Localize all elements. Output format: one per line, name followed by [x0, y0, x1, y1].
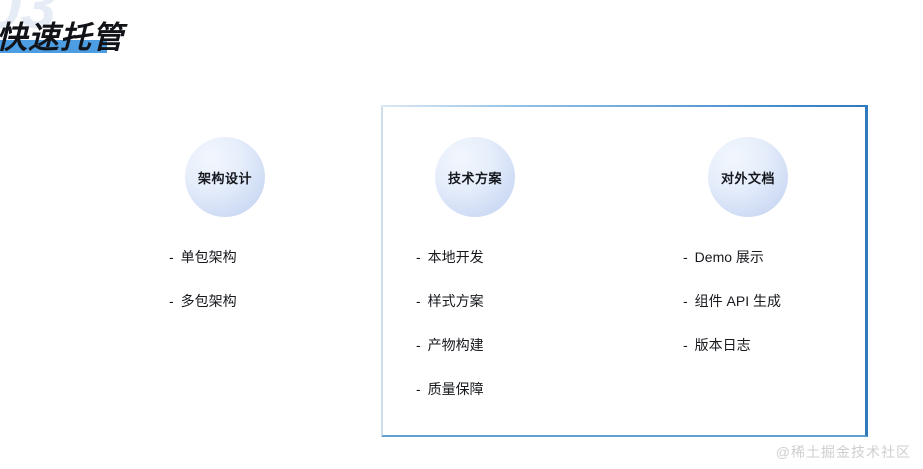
list-bullet-dash: - [416, 381, 421, 397]
bubble-architecture: 架构设计 [185, 137, 265, 217]
list-item: -版本日志 [683, 337, 833, 353]
slide-canvas: 03 快速托管 架构设计 -单包架构 -多包架构 技术方案 -本地开发 -样式方… [0, 0, 923, 469]
column-external-docs: 对外文档 -Demo 展示 -组件 API 生成 -版本日志 [663, 137, 833, 381]
item-list-tech-solution: -本地开发 -样式方案 -产物构建 -质量保障 [416, 249, 550, 397]
item-list-architecture: -单包架构 -多包架构 [169, 249, 295, 309]
slide-title-group: 快速托管 [0, 18, 124, 60]
list-item: -组件 API 生成 [683, 293, 833, 309]
list-bullet-dash: - [683, 337, 688, 353]
item-list-external-docs: -Demo 展示 -组件 API 生成 -版本日志 [683, 249, 833, 353]
site-watermark: @稀土掘金技术社区 [776, 442, 911, 462]
list-item-label: Demo 展示 [695, 249, 764, 265]
column-architecture: 架构设计 -单包架构 -多包架构 [155, 137, 295, 337]
list-item-label: 质量保障 [428, 381, 484, 397]
page-title: 快速托管 [0, 18, 124, 58]
list-item-label: 组件 API 生成 [695, 293, 781, 309]
list-bullet-dash: - [416, 337, 421, 353]
list-item-label: 产物构建 [428, 337, 484, 353]
list-item: -产物构建 [416, 337, 550, 353]
list-bullet-dash: - [683, 293, 688, 309]
bubble-external-docs: 对外文档 [708, 137, 788, 217]
bubble-tech-solution: 技术方案 [435, 137, 515, 217]
bubble-label: 对外文档 [721, 168, 775, 187]
list-item-label: 样式方案 [428, 293, 484, 309]
list-item: -单包架构 [169, 249, 295, 265]
list-item: -多包架构 [169, 293, 295, 309]
list-bullet-dash: - [169, 293, 174, 309]
list-item-label: 多包架构 [181, 293, 237, 309]
list-bullet-dash: - [416, 293, 421, 309]
column-tech-solution: 技术方案 -本地开发 -样式方案 -产物构建 -质量保障 [400, 137, 550, 425]
list-item: -Demo 展示 [683, 249, 833, 265]
list-item: -样式方案 [416, 293, 550, 309]
list-item: -本地开发 [416, 249, 550, 265]
bubble-label: 架构设计 [198, 168, 252, 187]
bubble-label: 技术方案 [448, 168, 502, 187]
list-bullet-dash: - [169, 249, 174, 265]
list-bullet-dash: - [416, 249, 421, 265]
list-item-label: 版本日志 [695, 337, 751, 353]
list-item-label: 单包架构 [181, 249, 237, 265]
list-bullet-dash: - [683, 249, 688, 265]
list-item: -质量保障 [416, 381, 550, 397]
list-item-label: 本地开发 [428, 249, 484, 265]
